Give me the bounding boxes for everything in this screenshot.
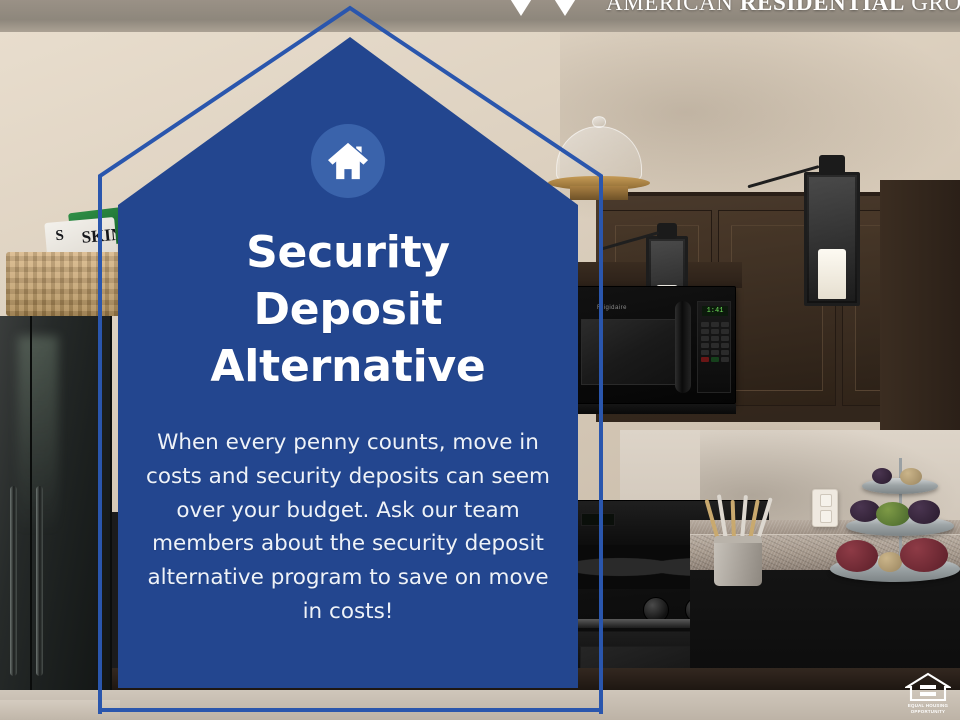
home-icon [326,141,370,181]
equal-housing-opportunity-logo: EQUAL HOUSING OPPORTUNITY [900,672,956,718]
brand-word-1: AMERICAN [606,0,740,15]
home-icon-badge [311,124,385,198]
title-line-1: Security [210,224,485,281]
brand-word-2: RESIDENTIAL [740,0,905,15]
card-body-text: When every penny counts, move in costs a… [146,426,551,630]
title-line-3: Alternative [210,338,485,395]
page-title: Security Deposit Alternative [210,224,485,396]
equal-housing-opportunity-icon [905,672,951,702]
card-content: Security Deposit Alternative When every … [118,100,578,690]
american-residential-group-mark-icon [500,0,596,20]
brand-wordmark: AMERICAN RESIDENTIAL GROUP [606,0,960,16]
eho-line-1: EQUAL HOUSING [900,703,956,708]
brand-logo: AMERICAN RESIDENTIAL GROUP [500,0,960,20]
title-line-2: Deposit [210,281,485,338]
eho-line-2: OPPORTUNITY [900,709,956,714]
brand-word-3: GROUP [905,0,960,15]
promo-graphic: Frigidaire 1:41 [0,0,960,720]
